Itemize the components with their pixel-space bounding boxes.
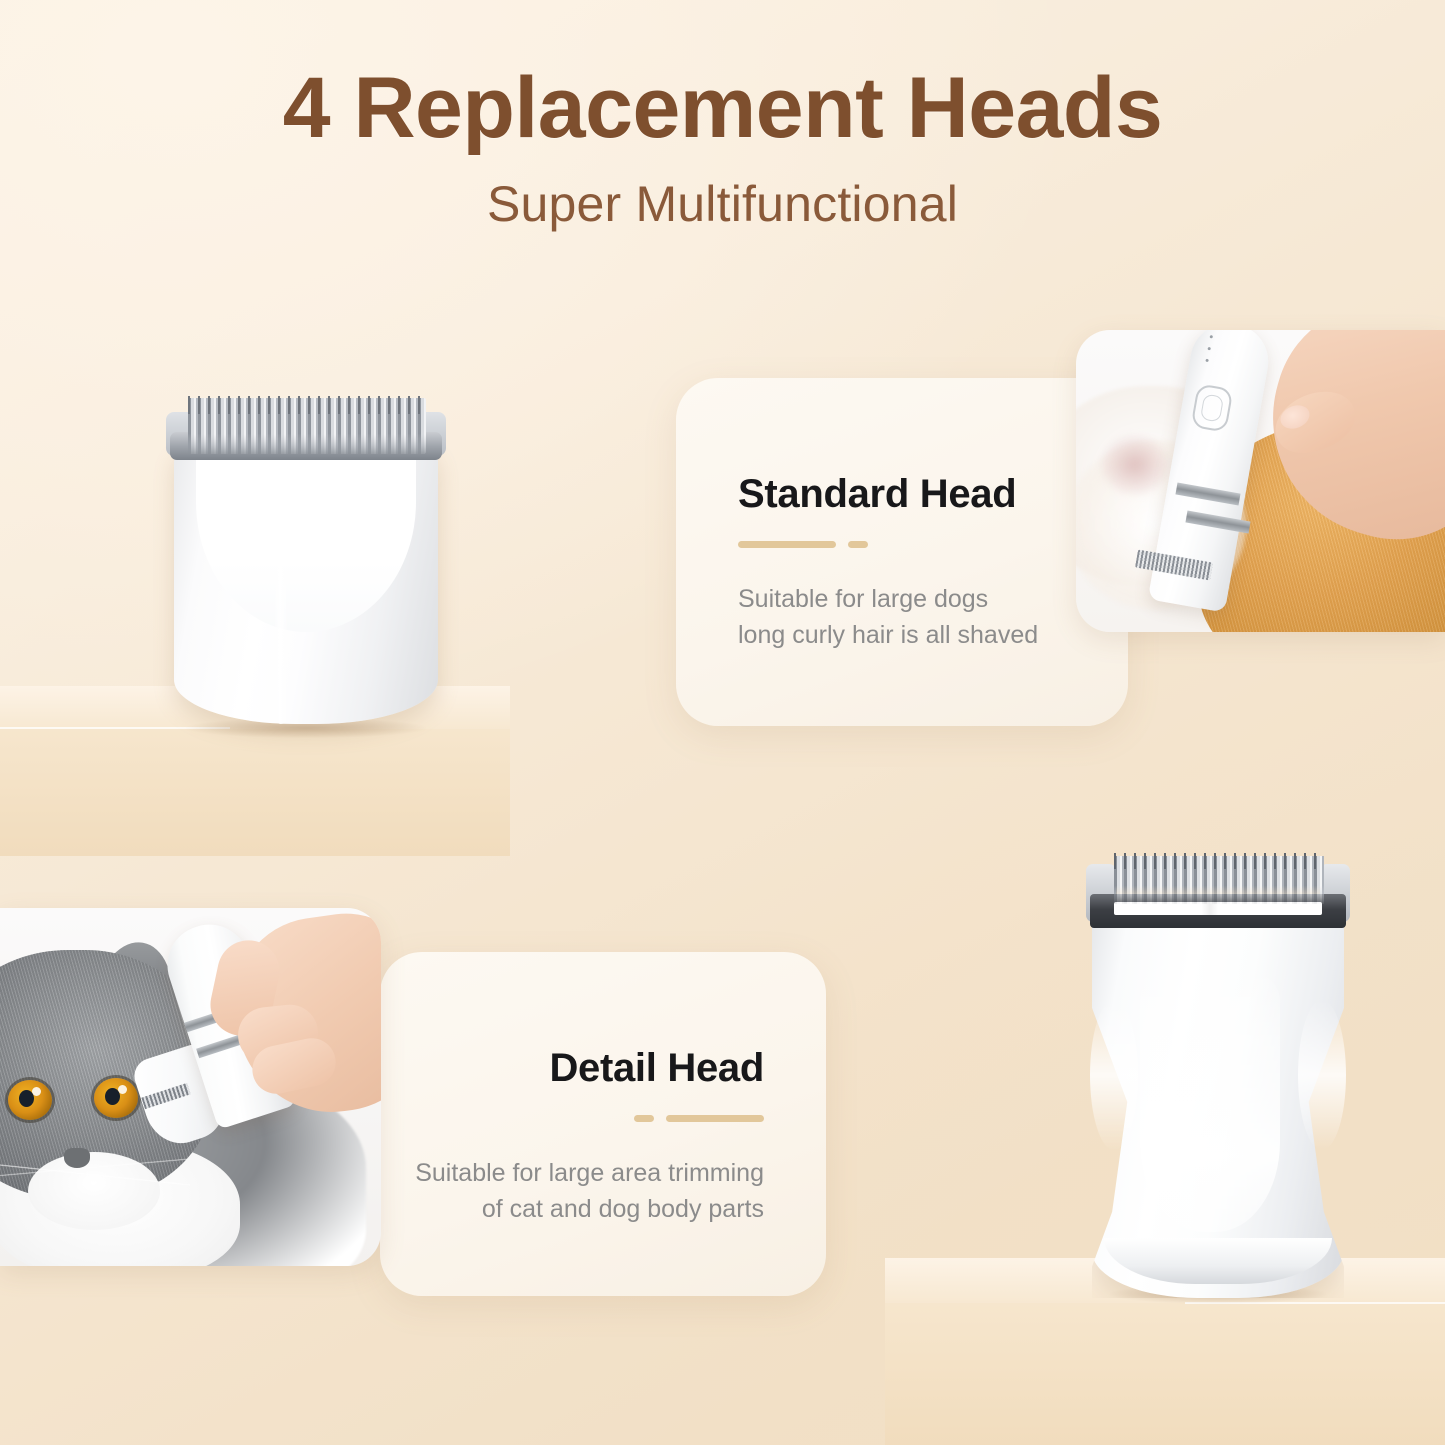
page-subtitle: Super Multifunctional [0,175,1445,233]
card-description-line-1: Suitable for large dogs [738,582,1128,618]
product-feature-banner: 4 Replacement Heads Super Multifunctiona… [0,0,1445,1445]
cat-nose [64,1148,90,1168]
card-description-line-2: long curly hair is all shaved [738,618,1128,654]
divider-dash-long [666,1115,764,1122]
card-heading: Detail Head [380,1048,764,1088]
card-divider [738,540,1128,548]
pedestal-front-face [0,729,510,856]
divider-dash-short [848,541,868,548]
product-waist-highlight-right [1298,1000,1346,1150]
card-description: Suitable for large dogs long curly hair … [738,582,1128,653]
product-waist-highlight-left [1090,1000,1138,1150]
pedestal-front-face [885,1303,1445,1445]
dog-paw [1102,436,1168,494]
divider-dash-long [738,541,836,548]
info-card-standard-head: Standard Head Suitable for large dogs lo… [676,378,1128,726]
card-description-line-2: of cat and dog body parts [380,1192,764,1228]
blade-teeth-tips [1114,853,1324,869]
card-heading: Standard Head [738,474,1128,514]
banner-header: 4 Replacement Heads Super Multifunctiona… [0,0,1445,233]
card-description-line-1: Suitable for large area trimming [380,1156,764,1192]
cat-eye-right [94,1078,138,1118]
standard-head-product [158,392,454,732]
product-gloss-highlight [274,542,288,724]
cat-whiskers [0,1134,190,1214]
cat-eye-left [8,1080,52,1120]
info-card-detail-head: Detail Head Suitable for large area trim… [380,952,826,1296]
detail-head-product [1068,850,1368,1298]
cat-grooming-photo [0,908,381,1266]
dog-grooming-photo [1076,330,1445,632]
page-title: 4 Replacement Heads [0,64,1445,153]
card-divider [380,1114,764,1122]
blade-teeth-tips [188,396,426,414]
card-description: Suitable for large area trimming of cat … [380,1156,764,1227]
divider-dash-short [634,1115,654,1122]
product-gloss-highlight [1140,960,1280,1232]
